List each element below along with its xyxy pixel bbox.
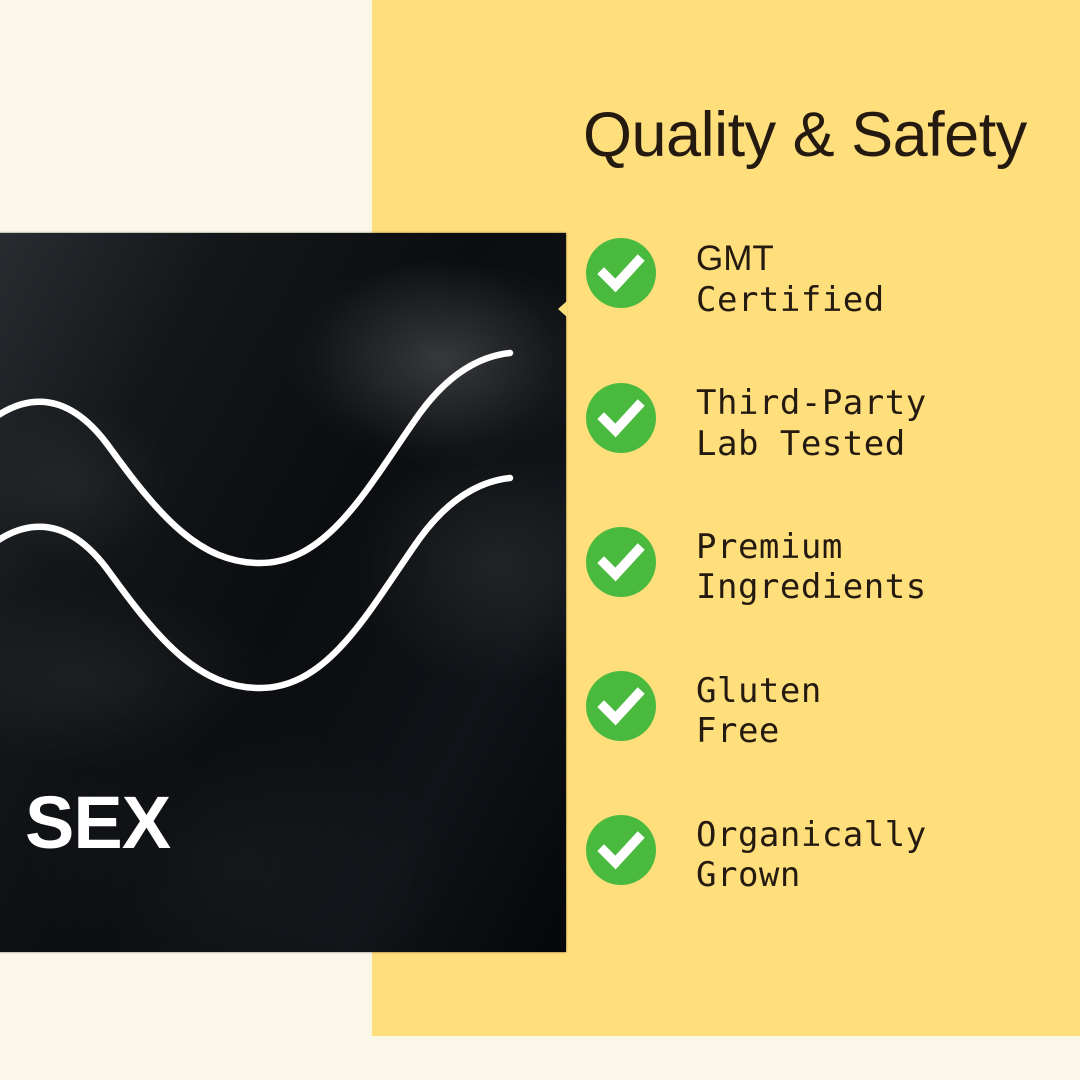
check-circle-icon [586, 383, 656, 453]
list-item-label-line2: Lab Tested [696, 424, 927, 464]
check-circle-icon [586, 671, 656, 741]
list-item-label: GMT Certified [696, 236, 885, 320]
list-item: GMT Certified [586, 236, 1046, 320]
list-item: Gluten Free [586, 669, 1046, 752]
product-brand-label: SEX [25, 786, 170, 860]
list-item: Organically Grown [586, 813, 1046, 896]
list-item-label: Third-Party Lab Tested [696, 381, 927, 464]
list-item-label-line1: Organically [696, 815, 927, 855]
list-item-label: Gluten Free [696, 669, 822, 752]
check-circle-icon [586, 815, 656, 885]
list-item-label-line1: Third-Party [696, 383, 927, 423]
tear-notch-icon [558, 301, 567, 317]
pouch-sheen-highlight [316, 262, 554, 449]
quality-feature-list: GMT Certified Third-Party Lab Tested Pre… [586, 236, 1046, 896]
check-circle-icon [586, 527, 656, 597]
list-item-label-line2: Grown [696, 855, 927, 895]
list-item-label: Premium Ingredients [696, 525, 927, 608]
list-item-label-line2: Free [696, 711, 822, 751]
list-item-label-line1: Gluten [696, 671, 822, 711]
page-title: Quality & Safety [583, 102, 1027, 168]
list-item-label-line2: Ingredients [696, 567, 927, 607]
product-package-image: SEX [0, 233, 566, 952]
check-circle-icon [586, 238, 656, 308]
list-item-label-line2: Certified [696, 280, 885, 320]
list-item: Premium Ingredients [586, 525, 1046, 608]
list-item-label: Organically Grown [696, 813, 927, 896]
quality-safety-infographic: SEX Quality & Safety GMT Certified Third… [0, 0, 1080, 1080]
pouch-sheen-highlight-secondary [0, 406, 173, 564]
list-item-label-line1: GMT [696, 238, 885, 280]
list-item: Third-Party Lab Tested [586, 381, 1046, 464]
list-item-label-line1: Premium [696, 527, 927, 567]
